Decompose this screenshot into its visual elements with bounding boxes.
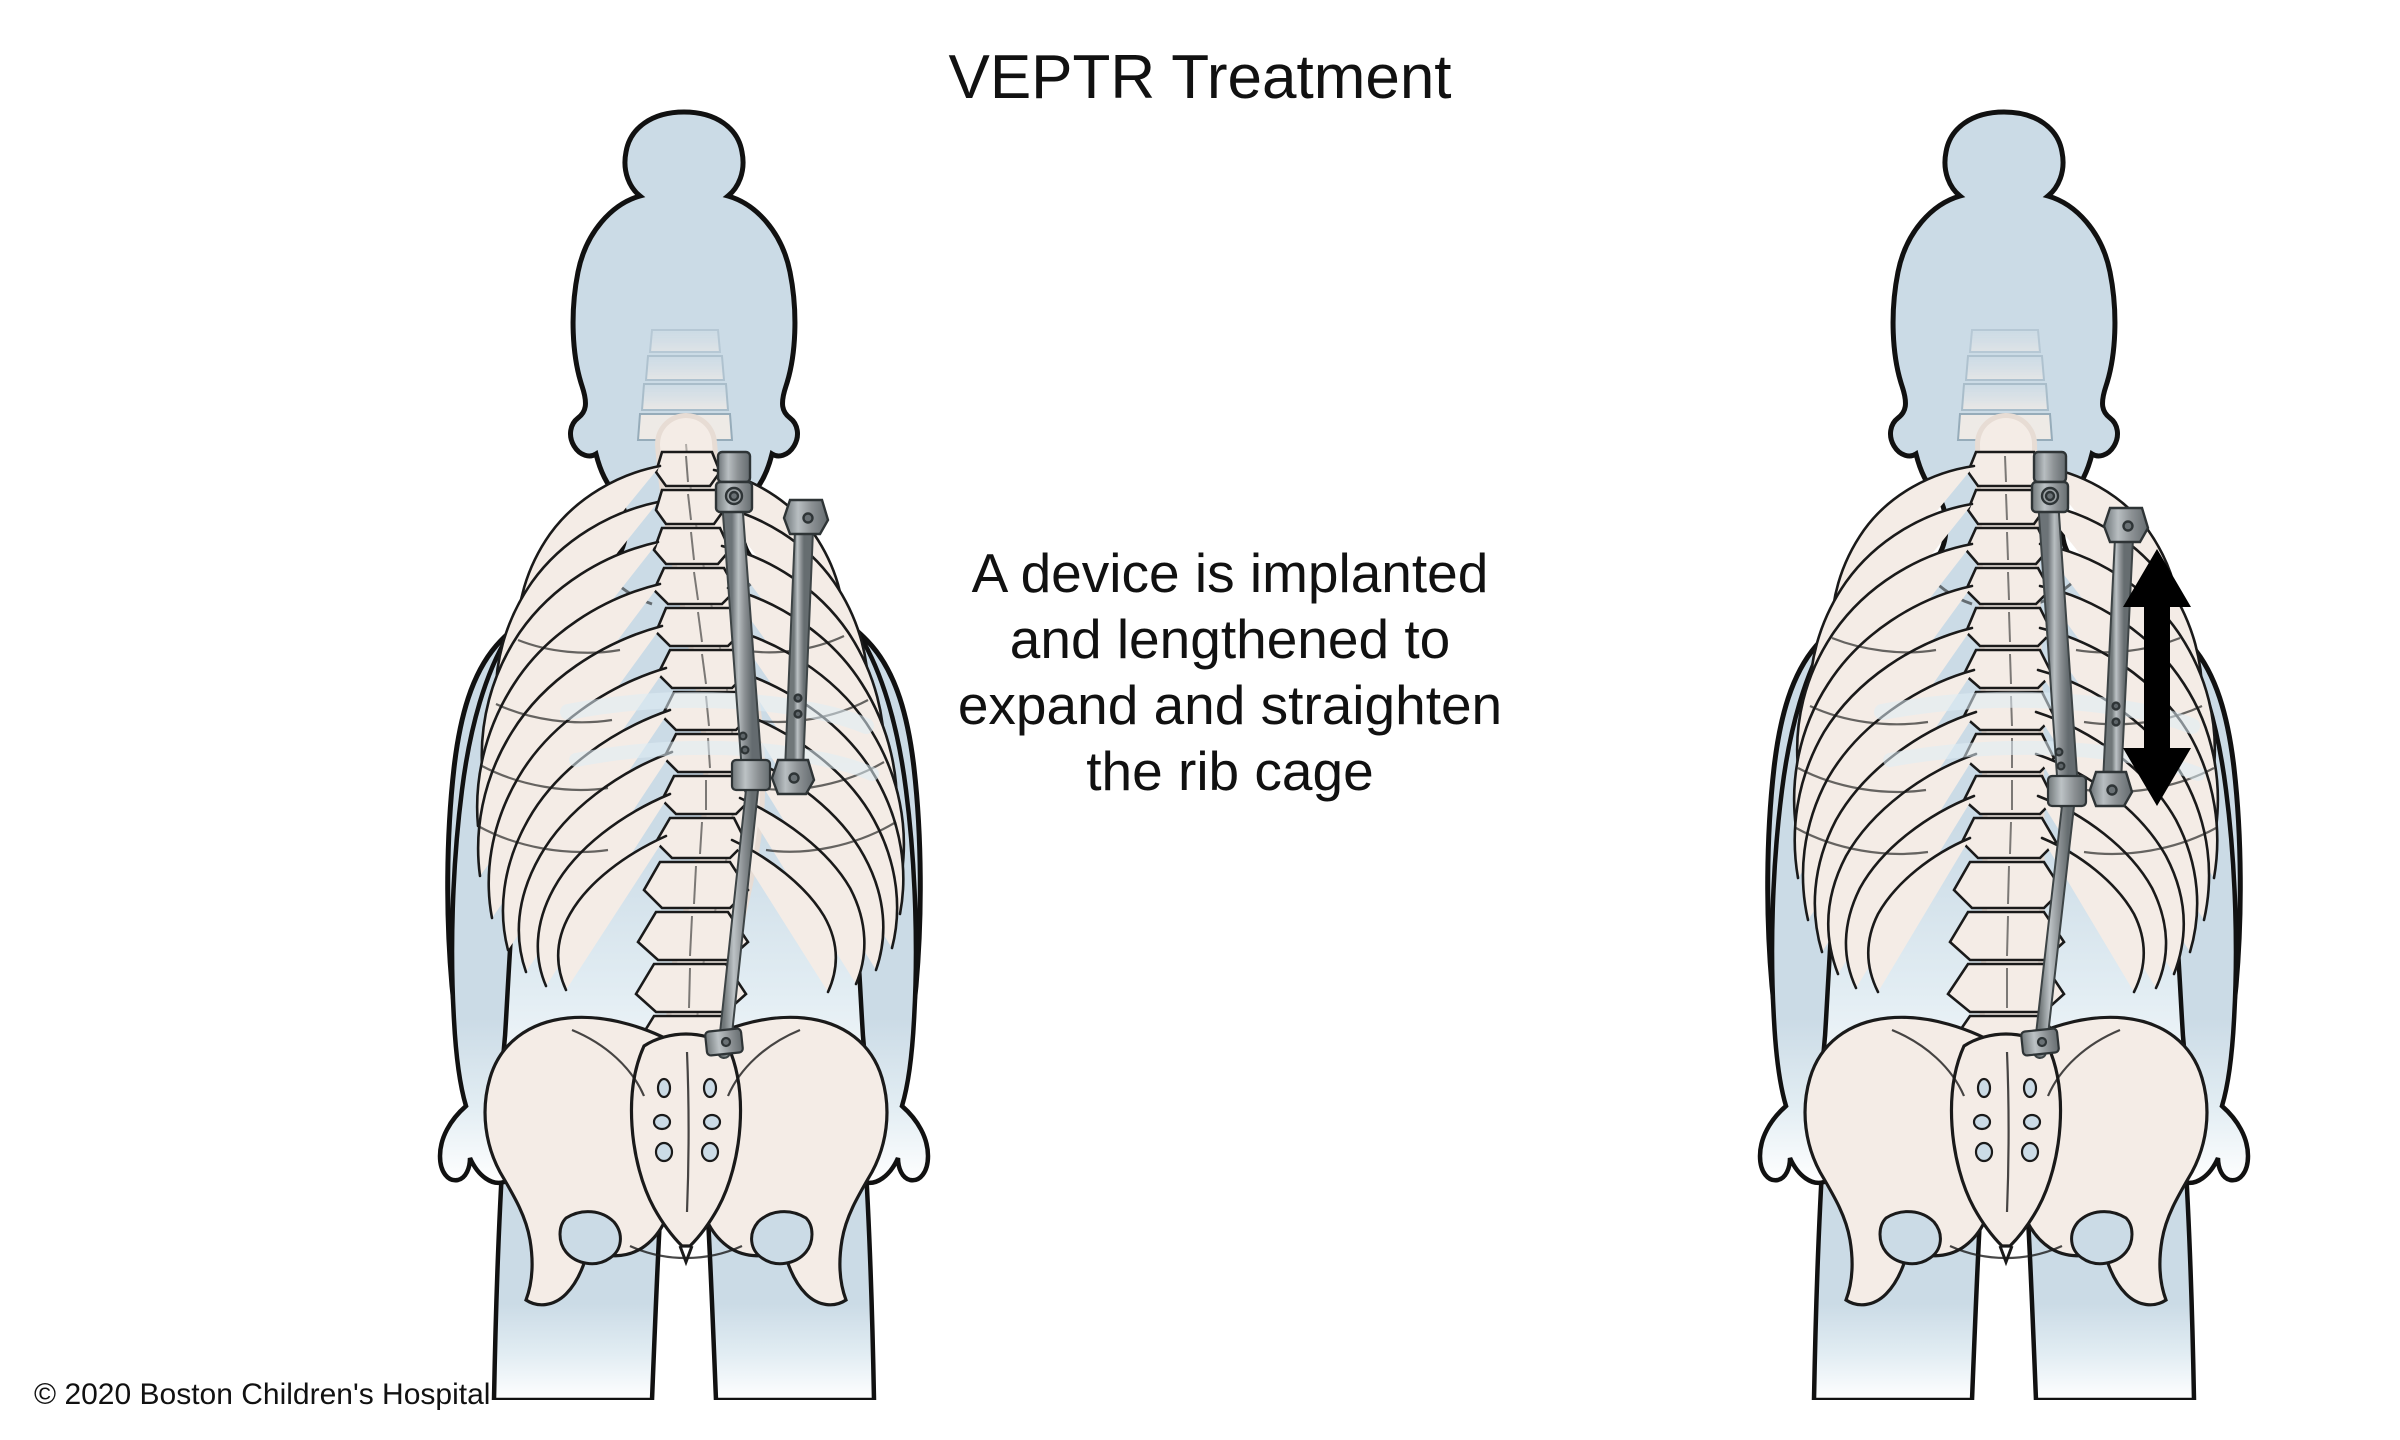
double-arrow-icon (2123, 549, 2191, 806)
copyright-notice: © 2020 Boston Children's Hospital (34, 1378, 490, 1412)
caption-text: A device is implanted and lengthened to … (880, 540, 1580, 804)
illustration-canvas: VEPTR Treatment (0, 0, 2400, 1440)
caption-line-2: and lengthened to (880, 606, 1580, 672)
caption-line-1: A device is implanted (880, 540, 1580, 606)
figure-after-treatment (1620, 0, 2380, 1400)
growth-arrow-container (2112, 545, 2202, 810)
caption-line-4: the rib cage (880, 738, 1580, 804)
skeleton-after (1794, 330, 2218, 1305)
skeleton-before (477, 330, 904, 1305)
caption-line-3: expand and straighten (880, 672, 1580, 738)
